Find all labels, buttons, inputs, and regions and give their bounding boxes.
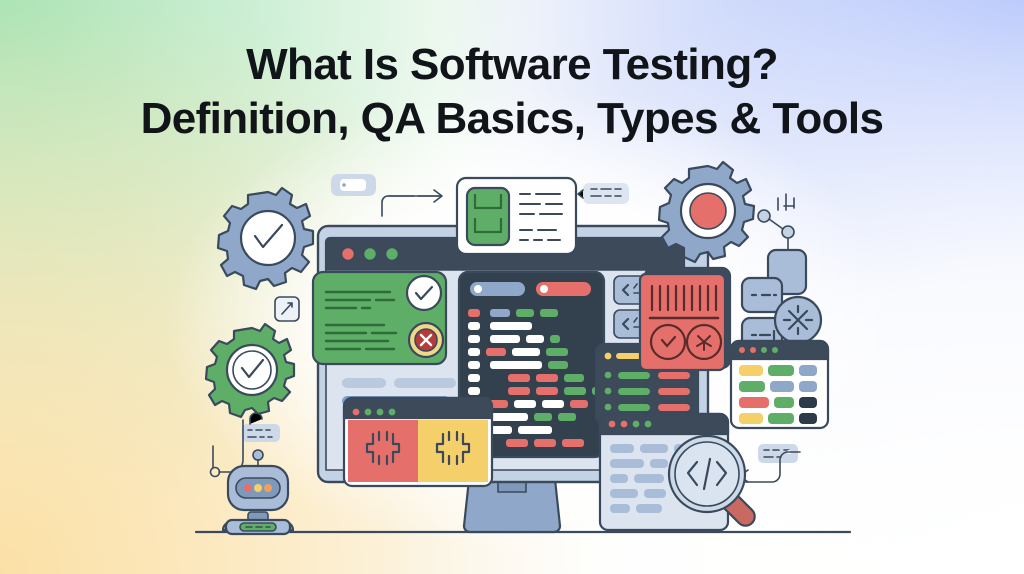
fail-badge: [409, 323, 443, 357]
page-title: What Is Software Testing? Definition, QA…: [0, 38, 1024, 146]
test-report-card: [457, 178, 576, 254]
stray-marks: [778, 194, 794, 210]
green-log-panel: [313, 272, 446, 364]
bracket-panel: [344, 398, 492, 486]
green-gear-check: [206, 324, 294, 417]
pass-badge: [407, 276, 441, 310]
blue-gear-check: [218, 188, 313, 289]
screenshot-root: What Is Software Testing? Definition, QA…: [0, 0, 1024, 574]
title-line-1: What Is Software Testing?: [0, 38, 1024, 92]
red-gauge-panel: [640, 268, 730, 370]
flow-nodes: [742, 210, 821, 352]
robot: [223, 450, 293, 534]
magnifier-code: [600, 414, 755, 530]
title-line-2: Definition, QA Basics, Types & Tools: [0, 92, 1024, 146]
traffic-lights: [342, 248, 399, 261]
tag-grid-window: [731, 341, 828, 428]
